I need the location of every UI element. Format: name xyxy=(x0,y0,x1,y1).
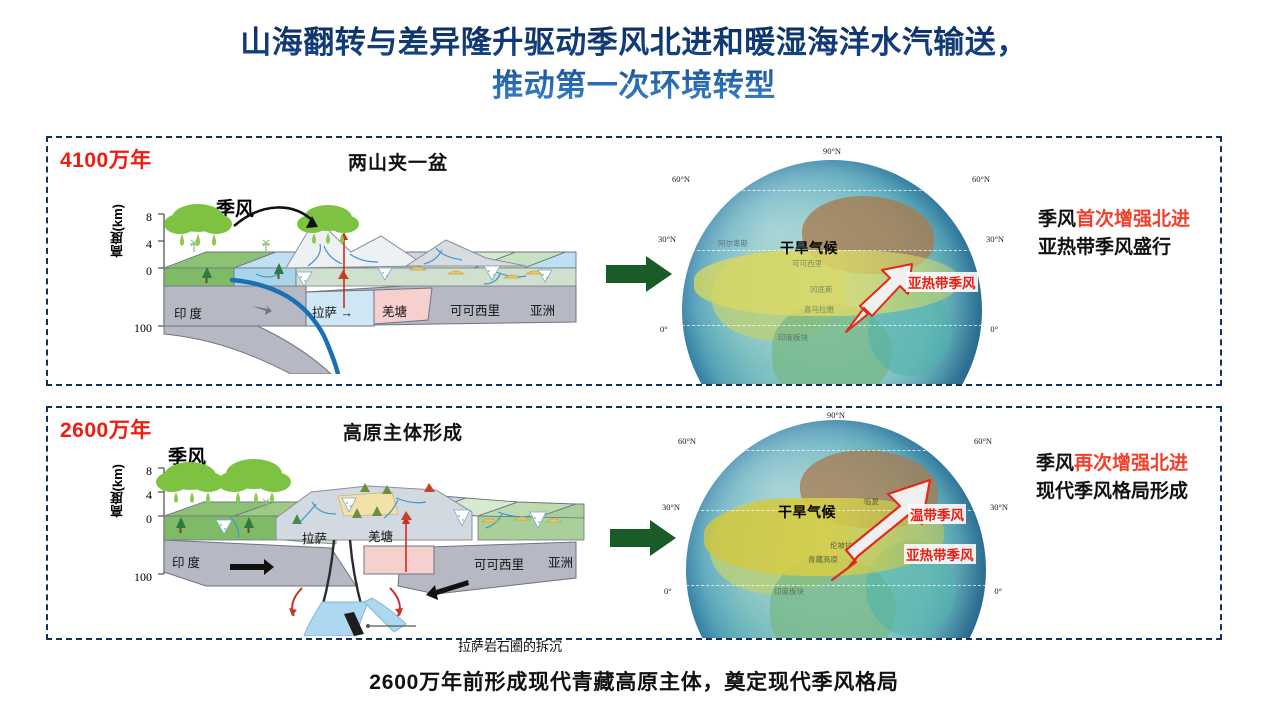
era-label-4100: 4100万年 xyxy=(60,144,152,174)
map-label-hohxil-1: 可可西里 xyxy=(792,258,822,269)
block-label-india-2: 印度 xyxy=(172,552,203,571)
block-label-qiangtang-2: 羌塘 xyxy=(368,526,393,545)
map-label-himalaya-1: 喜马拉雅 xyxy=(804,304,834,315)
lat-label-90n-2: 90°N xyxy=(827,412,845,420)
panel-2600ma: 2600万年 高原主体形成 高度(km) 8 4 0 100 季风 xyxy=(46,406,1222,640)
lat-label-30n-left-2: 30°N xyxy=(662,502,680,512)
lat-label-0-right-1: 0° xyxy=(990,324,998,334)
cross-section-diagram-2: 高度(km) 8 4 0 100 季风 xyxy=(106,436,626,636)
bottom-caption: 2600万年前形成现代青藏高原主体，奠定现代季风格局 xyxy=(0,666,1268,696)
conclusion-line-2: 亚热带季风盛行 xyxy=(1038,234,1190,262)
lat-label-30n-right-1: 30°N xyxy=(986,234,1004,244)
lat-label-0-left-1: 0° xyxy=(660,324,668,334)
delamination-annotation: 拉萨岩石圈的拆沉 xyxy=(458,636,562,655)
conclusion2-line-1: 季风再次增强北进 xyxy=(1036,450,1188,478)
globe-diagram-2: 90°N 60°N 60°N 30°N 30°N 0° 0° 干旱气候 临夏 伦… xyxy=(660,412,1012,638)
lat-label-0-right-2: 0° xyxy=(994,586,1002,596)
block-label-hohxil-2: 可可西里 xyxy=(474,554,524,573)
title-line-2: 推动第一次环境转型 xyxy=(0,65,1268,108)
title-line-1: 山海翻转与差异隆升驱动季风北进和暖湿海洋水汽输送， xyxy=(0,22,1268,65)
cross-section-svg-2 xyxy=(106,436,626,636)
map-label-indian-plate-1: 印度板块 xyxy=(778,332,808,343)
block-label-lhasa-1: 拉萨 → xyxy=(312,302,353,321)
map-label-alps-1: 阿尔卑斯 xyxy=(718,238,748,249)
panel-4100ma: 4100万年 两山夹一盆 高度(km) 8 4 0 100 季风 xyxy=(46,136,1222,386)
conclusion2-line1-red: 再次增强北进 xyxy=(1074,453,1188,474)
monsoon-tag-temperate-2: 温带季风 xyxy=(908,504,966,524)
block-label-asia-2: 亚洲 xyxy=(548,552,573,571)
lat-label-0-left-2: 0° xyxy=(664,586,672,596)
panel-1-conclusion: 季风首次增强北进 亚热带季风盛行 xyxy=(1038,206,1190,261)
cross-section-diagram-1: 高度(km) 8 4 0 100 季风 xyxy=(106,174,596,374)
panel-heading-1: 两山夹一盆 xyxy=(348,148,448,175)
map-label-indian-plate-2: 印度板块 xyxy=(774,586,804,597)
lat-label-60n-right-1: 60°N xyxy=(972,174,990,184)
block-label-lhasa-2: 拉萨 xyxy=(302,528,327,547)
cloud-b-2 xyxy=(217,459,291,492)
climate-label-arid-1: 干旱气候 xyxy=(780,238,838,258)
map-label-gangdese-1: 冈底斯 xyxy=(810,284,833,295)
conclusion2-line1-black: 季风 xyxy=(1036,453,1074,474)
lat-label-30n-right-2: 30°N xyxy=(990,502,1008,512)
lat-label-30n-left-1: 30°N xyxy=(658,234,676,244)
globe-diagram-1: 90°N 60°N 60°N 30°N 30°N 0° 0° 干旱气候 阿尔卑斯… xyxy=(656,146,1008,384)
monsoon-arrow-big-2 xyxy=(826,474,946,586)
cloud-left-1 xyxy=(164,204,232,246)
monsoon-tag-subtropical-1: 亚热带季风 xyxy=(906,272,978,292)
conclusion-line1-black: 季风 xyxy=(1038,209,1076,230)
cloud-a-2 xyxy=(156,462,224,492)
conclusion2-line-2: 现代季风格局形成 xyxy=(1036,478,1188,506)
block-label-asia-1: 亚洲 xyxy=(530,300,555,319)
lat-label-60n-left-2: 60°N xyxy=(678,436,696,446)
page-title: 山海翻转与差异隆升驱动季风北进和暖湿海洋水汽输送， 推动第一次环境转型 xyxy=(0,22,1268,108)
cross-section-svg-1 xyxy=(106,174,596,374)
block-label-india-1: 印度 xyxy=(174,303,205,322)
block-label-qiangtang-1: 羌塘 xyxy=(382,301,407,320)
conclusion-line1-red: 首次增强北进 xyxy=(1076,209,1190,230)
lat-label-60n-left-1: 60°N xyxy=(672,174,690,184)
conclusion-line-1: 季风首次增强北进 xyxy=(1038,206,1190,234)
monsoon-arrow-subtropical-1 xyxy=(838,258,924,338)
lat-label-60n-right-2: 60°N xyxy=(974,436,992,446)
block-label-hohxil-1: 可可西里 xyxy=(450,300,500,319)
monsoon-tag-subtropical-2: 亚热带季风 xyxy=(904,544,976,564)
panel-2-conclusion: 季风再次增强北进 现代季风格局形成 xyxy=(1036,450,1188,505)
lat-label-90n-1: 90°N xyxy=(823,146,841,156)
